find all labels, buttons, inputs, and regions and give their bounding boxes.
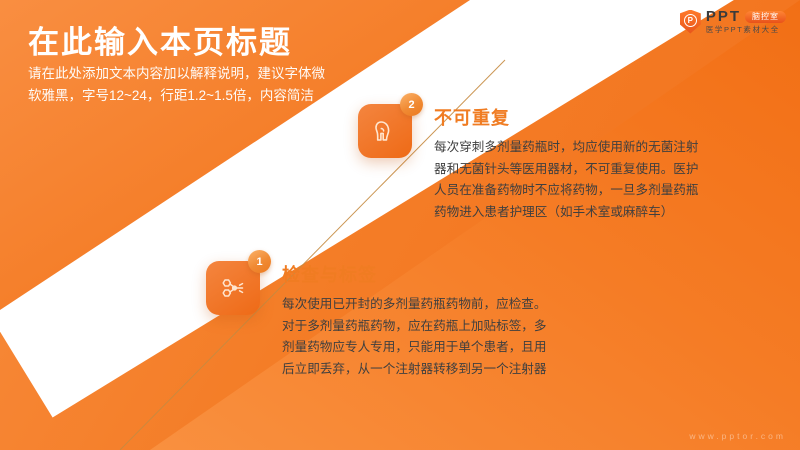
block-heading-2: 不可重复 (434, 107, 764, 129)
block-2-line-1: 每次穿刺多剂量药瓶时，均应使用新的无菌注射 (434, 137, 764, 159)
slide-canvas: 在此输入本页标题 请在此处添加文本内容加以解释说明，建议字体微 软雅黑，字号12… (0, 0, 800, 450)
brand-logo[interactable]: P PPT 脑控室 医学PPT素材大全 (680, 9, 786, 34)
icon-wrap-1[interactable]: 1 (206, 261, 260, 315)
shield-icon: P (680, 10, 701, 34)
icon-wrap-2[interactable]: 2 (358, 104, 412, 158)
block-2-line-2: 器和无菌针头等医用器材，不可重复使用。医护 (434, 159, 764, 181)
subtitle-line-1: 请在此处添加文本内容加以解释说明，建议字体微 (28, 63, 358, 85)
block-body-1: 每次使用已开封的多剂量药瓶药物前，应检查。 对于多剂量药瓶药物，应在药瓶上加贴标… (282, 294, 612, 380)
block-body-2: 每次穿刺多剂量药瓶时，均应使用新的无菌注射 器和无菌针头等医用器材，不可重复使用… (434, 137, 764, 223)
block-heading-1: 检查与标签 (282, 264, 612, 286)
block-text-2: 不可重复 每次穿刺多剂量药瓶时，均应使用新的无菌注射 器和无菌针头等医用器材，不… (434, 107, 764, 223)
block-2-line-4: 药物进入患者护理区（如手术室或麻醉车） (434, 202, 764, 224)
logo-top-row: PPT 脑控室 (706, 9, 786, 24)
subtitle-line-2: 软雅黑，字号12~24，行距1.2~1.5倍，内容简洁 (28, 85, 358, 107)
block-1-line-3: 剂量药物应专人专用，只能用于单个患者，且用 (282, 337, 612, 359)
block-text-1: 检查与标签 每次使用已开封的多剂量药瓶药物前，应检查。 对于多剂量药瓶药物，应在… (282, 264, 612, 380)
page-title: 在此输入本页标题 (28, 17, 292, 62)
logo-brand: PPT (706, 9, 741, 24)
block-number-badge-2: 2 (400, 93, 423, 116)
logo-badge: 脑控室 (745, 11, 786, 23)
block-1-line-1: 每次使用已开封的多剂量药瓶药物前，应检查。 (282, 294, 612, 316)
logo-text-group: PPT 脑控室 医学PPT素材大全 (706, 9, 786, 34)
block-number-badge-1: 1 (248, 250, 271, 273)
block-1-line-4: 后立即丢弃，从一个注射器转移到另一个注射器 (282, 359, 612, 381)
block-1-line-2: 对于多剂量药瓶药物，应在药瓶上加贴标签，多 (282, 316, 612, 338)
logo-tagline: 医学PPT素材大全 (706, 25, 786, 34)
shield-letter: P (684, 14, 697, 27)
block-2-line-3: 人员在准备药物时不应将药物，一旦多剂量药瓶 (434, 180, 764, 202)
page-subtitle: 请在此处添加文本内容加以解释说明，建议字体微 软雅黑，字号12~24，行距1.2… (28, 63, 358, 107)
watermark: www.pptor.com (689, 431, 786, 441)
